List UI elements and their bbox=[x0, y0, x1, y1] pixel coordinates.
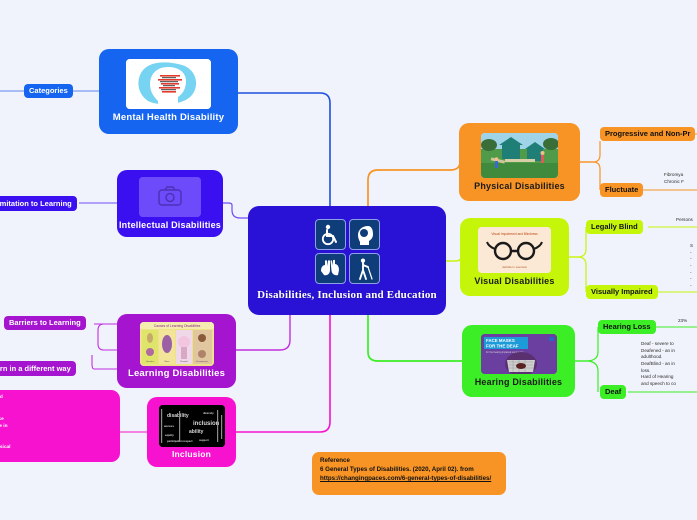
node-physical-disabilities[interactable]: Physical Disabilities bbox=[460, 124, 579, 200]
camera-icon bbox=[139, 177, 201, 217]
pill-fluctuate[interactable]: Fluctuate bbox=[600, 183, 643, 197]
pill-visually-impaired[interactable]: Visually Impaired bbox=[586, 285, 658, 299]
svg-text:definition / overview: definition / overview bbox=[502, 265, 528, 269]
visual-disabilities-label: Visual Disabilities bbox=[474, 276, 554, 286]
svg-text:Visual Impairment and Blindnes: Visual Impairment and Blindness bbox=[491, 232, 538, 236]
intellectual-thumbnail-placeholder bbox=[139, 177, 201, 217]
physical-disabilities-label: Physical Disabilities bbox=[474, 181, 565, 191]
pill-deaf[interactable]: Deaf bbox=[600, 385, 626, 399]
svg-text:inclusion: inclusion bbox=[193, 421, 220, 427]
hearing-disabilities-thumbnail: FACE MASKS FOR THE DEAF for the hearing … bbox=[481, 334, 557, 374]
sign-language-hands-icon bbox=[315, 253, 346, 284]
physical-note-text: Fibromya Chronic F bbox=[664, 172, 697, 185]
central-node-label: Disabilities, Inclusion and Education bbox=[257, 289, 437, 302]
node-inclusion[interactable]: disability inclusion access ability equi… bbox=[148, 398, 235, 466]
hearing-disabilities-label: Hearing Disabilities bbox=[475, 377, 563, 387]
node-learning-disabilities[interactable]: Causes of Learning Disabilities Genetics… bbox=[118, 315, 235, 387]
node-hearing-disabilities[interactable]: FACE MASKS FOR THE DEAF for the hearing … bbox=[463, 326, 574, 396]
central-node[interactable]: Disabilities, Inclusion and Education bbox=[249, 207, 445, 314]
reference-body: 6 General Types of Disabilities. (2020, … bbox=[320, 466, 498, 484]
pill-barriers-to-learning[interactable]: Barriers to Learning bbox=[4, 316, 86, 330]
pill-categories[interactable]: Categories bbox=[24, 84, 73, 98]
svg-text:Prenatal: Prenatal bbox=[180, 360, 188, 363]
node-intellectual-disabilities[interactable]: Intellectual Disabilities bbox=[118, 171, 222, 236]
svg-text:Brain: Brain bbox=[164, 361, 169, 363]
svg-text:diversity: diversity bbox=[203, 411, 214, 415]
svg-text:support: support bbox=[199, 438, 209, 442]
svg-text:Environment: Environment bbox=[196, 360, 208, 363]
node-visual-disabilities[interactable]: Visual Impairment and Blindness definiti… bbox=[461, 219, 568, 295]
pill-legally-blind[interactable]: Legally Blind bbox=[586, 220, 643, 234]
svg-text:Causes of Learning Disabilitie: Causes of Learning Disabilities bbox=[153, 324, 200, 328]
reference-citation: 6 General Types of Disabilities. (2020, … bbox=[320, 466, 474, 473]
central-icon-grid bbox=[315, 219, 380, 284]
inclusion-notes-box: cation between school, home and o the st… bbox=[0, 390, 120, 462]
pill-progressive-and-non-progressive[interactable]: Progressive and Non-Pr bbox=[600, 127, 695, 141]
hearing-note-percent: 23% bbox=[678, 318, 687, 325]
reference-box: Reference 6 General Types of Disabilitie… bbox=[312, 452, 506, 495]
mindmap-canvas: Disabilities, Inclusion and Education bbox=[0, 0, 697, 520]
learning-disabilities-label: Learning Disabilities bbox=[128, 369, 225, 380]
visual-note-persons: Persons bbox=[676, 217, 697, 224]
physical-disabilities-thumbnail bbox=[481, 133, 558, 178]
inclusion-thumbnail: disability inclusion access ability equi… bbox=[159, 405, 225, 447]
svg-text:ability: ability bbox=[189, 429, 204, 435]
wheelchair-icon bbox=[315, 219, 346, 250]
hearing-note-definitions: Deaf - severe to Deafened - an in adulth… bbox=[641, 341, 697, 388]
pill-hearing-loss[interactable]: Hearing Loss bbox=[598, 320, 656, 334]
inclusion-label: Inclusion bbox=[172, 450, 211, 460]
intellectual-label: Intellectual Disabilities bbox=[119, 220, 221, 230]
svg-text:access: access bbox=[164, 424, 174, 428]
learning-disabilities-thumbnail: Causes of Learning Disabilities Genetics… bbox=[140, 322, 214, 366]
pill-learn-in-a-different-way[interactable]: Learn in a different way bbox=[0, 361, 76, 376]
brain-head-icon bbox=[349, 219, 380, 250]
svg-text:FACE MASKS: FACE MASKS bbox=[486, 338, 515, 343]
svg-text:FOR THE DEAF: FOR THE DEAF bbox=[486, 344, 519, 349]
node-mental-health-disability[interactable]: Mental Health Disability bbox=[100, 50, 237, 133]
pill-limitation-to-learning[interactable]: Limitation to Learning bbox=[0, 196, 77, 211]
white-cane-person-icon bbox=[349, 253, 380, 284]
reference-heading: Reference bbox=[320, 457, 498, 466]
visual-note-list: S - - - - - - bbox=[690, 243, 697, 290]
svg-text:Genetics: Genetics bbox=[146, 360, 154, 363]
mental-health-thumbnail bbox=[126, 59, 211, 109]
svg-text:equity: equity bbox=[165, 433, 174, 437]
visual-disabilities-thumbnail: Visual Impairment and Blindness definiti… bbox=[478, 227, 551, 273]
mental-health-label: Mental Health Disability bbox=[113, 113, 224, 124]
svg-text:disability: disability bbox=[167, 413, 189, 419]
reference-link[interactable]: https://changingpaces.com/6-general-type… bbox=[320, 475, 491, 482]
